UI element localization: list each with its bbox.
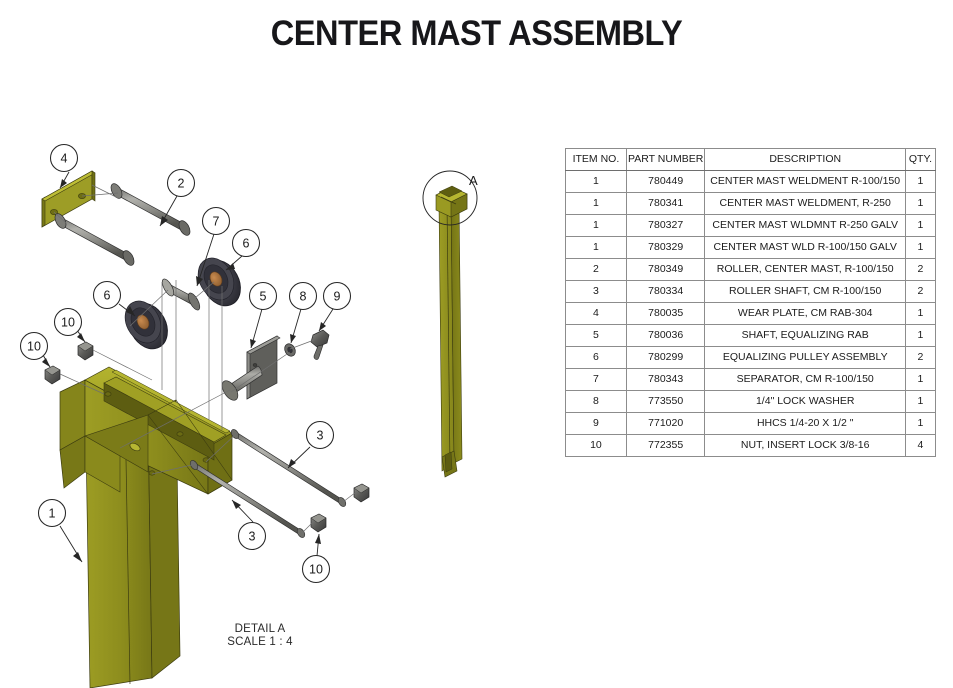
column-header-qty: QTY.	[905, 149, 935, 171]
cell-qty: 1	[905, 369, 935, 391]
cell-part-number: 780334	[626, 281, 705, 303]
table-row: 9771020HHCS 1/4-20 X 1/2 "1	[566, 413, 936, 435]
column-header-description: DESCRIPTION	[705, 149, 905, 171]
cell-description: ROLLER SHAFT, CM R-100/150	[705, 281, 905, 303]
cell-item-no: 2	[566, 259, 627, 281]
balloon-label: 9	[334, 290, 341, 304]
cell-item-no: 8	[566, 391, 627, 413]
balloon-10-left[interactable]: 10	[21, 333, 51, 368]
cell-description: EQUALIZING PULLEY ASSEMBLY	[705, 347, 905, 369]
part-lock-nut-a	[45, 366, 60, 384]
detail-caption: DETAIL A SCALE 1 : 4	[178, 623, 342, 649]
balloon-label: 10	[27, 340, 41, 354]
cell-item-no: 1	[566, 237, 627, 259]
part-lock-nut-b	[78, 342, 93, 360]
table-row: 4780035WEAR PLATE, CM RAB-3041	[566, 303, 936, 325]
part-lock-nut-d	[311, 514, 326, 532]
table-row: 1780329CENTER MAST WLD R-100/150 GALV1	[566, 237, 936, 259]
part-equalizing-shaft	[219, 336, 280, 403]
table-row: 1780449CENTER MAST WELDMENT R-100/1501	[566, 171, 936, 193]
balloon-9[interactable]: 9	[319, 283, 351, 332]
detail-caption-line2: SCALE 1 : 4	[178, 636, 342, 649]
balloon-label: 2	[178, 177, 185, 191]
balloon-label: 10	[309, 563, 323, 577]
cell-description: CENTER MAST WLDMNT R-250 GALV	[705, 215, 905, 237]
table-row: 1780327CENTER MAST WLDMNT R-250 GALV1	[566, 215, 936, 237]
exploded-assembly-view: 4 2 7 6 6	[0, 90, 420, 688]
cell-item-no: 1	[566, 215, 627, 237]
cell-part-number: 780327	[626, 215, 705, 237]
cell-item-no: 4	[566, 303, 627, 325]
cell-description: NUT, INSERT LOCK 3/8-16	[705, 435, 905, 457]
balloon-10-bottom[interactable]: 10	[303, 534, 330, 583]
cell-qty: 2	[905, 281, 935, 303]
cell-qty: 1	[905, 193, 935, 215]
part-lock-nut-c	[354, 484, 369, 502]
detail-mast-head	[436, 186, 467, 217]
balloon-label: 4	[61, 152, 68, 166]
detail-caption-line1: DETAIL A	[178, 623, 342, 636]
cell-description: CENTER MAST WELDMENT, R-250	[705, 193, 905, 215]
cell-item-no: 10	[566, 435, 627, 457]
cell-part-number: 771020	[626, 413, 705, 435]
cell-qty: 1	[905, 215, 935, 237]
cell-part-number: 780036	[626, 325, 705, 347]
cell-part-number: 780349	[626, 259, 705, 281]
cell-qty: 1	[905, 413, 935, 435]
balloon-label: 7	[213, 215, 220, 229]
cell-qty: 1	[905, 325, 935, 347]
cell-description: HHCS 1/4-20 X 1/2 "	[705, 413, 905, 435]
cell-item-no: 3	[566, 281, 627, 303]
balloon-label: 5	[260, 290, 267, 304]
column-header-item-no: ITEM NO.	[566, 149, 627, 171]
part-wear-plate	[42, 171, 95, 227]
balloon-label: 3	[249, 530, 256, 544]
cell-part-number: 780449	[626, 171, 705, 193]
part-roller-lower	[53, 212, 137, 267]
balloon-1[interactable]: 1	[39, 500, 83, 563]
balloon-8[interactable]: 8	[290, 283, 317, 344]
cell-qty: 1	[905, 237, 935, 259]
cell-part-number: 780035	[626, 303, 705, 325]
detail-view-mast: A	[405, 165, 525, 495]
cell-description: SHAFT, EQUALIZING RAB	[705, 325, 905, 347]
table-row: 2780349ROLLER, CENTER MAST, R-100/1502	[566, 259, 936, 281]
balloon-6-lower[interactable]: 6	[94, 282, 136, 317]
cell-part-number: 780299	[626, 347, 705, 369]
cell-item-no: 5	[566, 325, 627, 347]
cell-qty: 2	[905, 347, 935, 369]
balloon-label: 6	[243, 237, 250, 251]
balloon-label: 3	[317, 429, 324, 443]
cell-qty: 1	[905, 391, 935, 413]
table-row: 10772355NUT, INSERT LOCK 3/8-164	[566, 435, 936, 457]
cell-part-number: 773550	[626, 391, 705, 413]
cell-description: 1/4" LOCK WASHER	[705, 391, 905, 413]
balloon-6-upper[interactable]: 6	[226, 230, 260, 271]
column-header-part-number: PART NUMBER	[626, 149, 705, 171]
table-row: 1780341CENTER MAST WELDMENT, R-2501	[566, 193, 936, 215]
part-hex-cap-screw	[311, 330, 329, 360]
cell-description: CENTER MAST WLD R-100/150 GALV	[705, 237, 905, 259]
cell-part-number: 780329	[626, 237, 705, 259]
cell-part-number: 780341	[626, 193, 705, 215]
bill-of-materials-table: ITEM NO. PART NUMBER DESCRIPTION QTY. 17…	[565, 148, 936, 457]
detail-letter-label: A	[469, 173, 478, 188]
balloon-label: 1	[49, 507, 56, 521]
cell-item-no: 1	[566, 171, 627, 193]
part-separator	[160, 277, 202, 312]
page-title: CENTER MAST ASSEMBLY	[33, 14, 919, 54]
table-row: 87735501/4" LOCK WASHER1	[566, 391, 936, 413]
table-row: 5780036SHAFT, EQUALIZING RAB1	[566, 325, 936, 347]
balloon-10-upper[interactable]: 10	[55, 309, 86, 343]
cell-part-number: 780343	[626, 369, 705, 391]
balloon-label: 6	[104, 289, 111, 303]
drawing-sheet: CENTER MAST ASSEMBLY	[0, 0, 953, 688]
cell-description: CENTER MAST WELDMENT R-100/150	[705, 171, 905, 193]
cell-description: SEPARATOR, CM R-100/150	[705, 369, 905, 391]
cell-item-no: 7	[566, 369, 627, 391]
table-row: 3780334ROLLER SHAFT, CM R-100/1502	[566, 281, 936, 303]
balloon-label: 10	[61, 316, 75, 330]
cell-description: WEAR PLATE, CM RAB-304	[705, 303, 905, 325]
detail-mast-body	[439, 199, 462, 477]
table-header-row: ITEM NO. PART NUMBER DESCRIPTION QTY.	[566, 149, 936, 171]
cell-qty: 2	[905, 259, 935, 281]
balloon-3-upper[interactable]: 3	[288, 422, 334, 469]
cell-qty: 4	[905, 435, 935, 457]
cell-item-no: 6	[566, 347, 627, 369]
cell-description: ROLLER, CENTER MAST, R-100/150	[705, 259, 905, 281]
cell-item-no: 9	[566, 413, 627, 435]
balloon-2[interactable]: 2	[160, 170, 195, 227]
part-equalizing-pulley-lower	[118, 295, 175, 356]
table-row: 7780343SEPARATOR, CM R-100/1501	[566, 369, 936, 391]
table-row: 6780299EQUALIZING PULLEY ASSEMBLY2	[566, 347, 936, 369]
cell-qty: 1	[905, 171, 935, 193]
cell-part-number: 772355	[626, 435, 705, 457]
cell-qty: 1	[905, 303, 935, 325]
cell-item-no: 1	[566, 193, 627, 215]
balloon-label: 8	[300, 290, 307, 304]
